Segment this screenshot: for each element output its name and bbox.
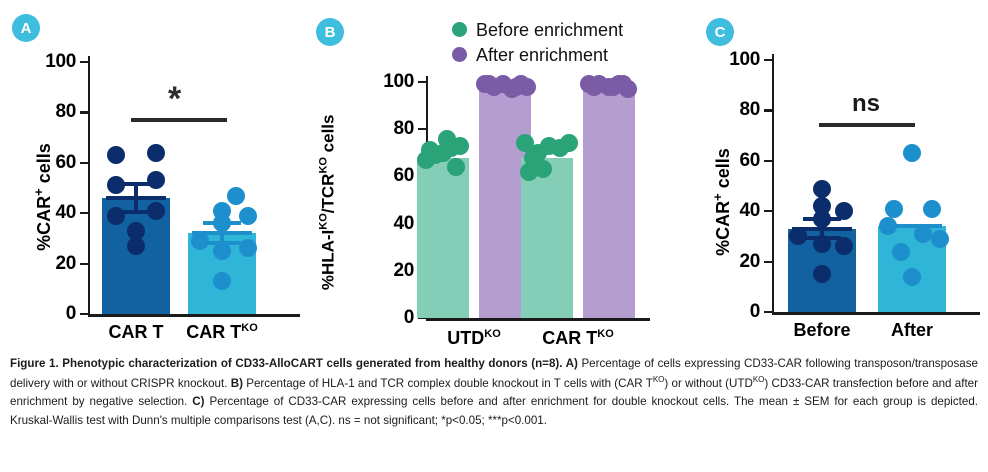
y-axis-tick (418, 81, 426, 83)
data-point (147, 202, 165, 220)
y-axis-sup-c: + (710, 193, 725, 201)
y-axis-tick (418, 128, 426, 130)
data-point (213, 242, 231, 260)
y-axis-tick-label: 0 (706, 302, 760, 321)
data-point (931, 230, 949, 248)
y-axis-sup1-b: KO (318, 213, 330, 230)
panel-c-plot: 020406080100BeforeAfterns (650, 0, 988, 350)
bar-before-0 (417, 158, 469, 318)
y-axis-tick (80, 61, 88, 63)
panel-b-y-axis-title: %HLA-IKO/TCRKO cells (318, 87, 339, 317)
bar-before-1 (521, 158, 573, 318)
y-axis-prefix-a: %CAR (34, 196, 54, 251)
panel-c-y-axis-title: %CAR+ cells (710, 117, 734, 287)
caption-b-text2: ) or without (UTD (664, 377, 752, 390)
data-point (903, 144, 921, 162)
panel-b-plot: 020406080100UTDKOCAR TKO (300, 0, 660, 350)
y-axis-tick-label: 40 (360, 214, 414, 233)
data-point (213, 214, 231, 232)
data-point (507, 78, 525, 96)
y-axis-line (772, 54, 774, 312)
data-point (107, 146, 125, 164)
data-point (438, 130, 456, 148)
data-point (885, 200, 903, 218)
significance-star: * (168, 82, 181, 116)
significance-ns-label: ns (852, 92, 880, 116)
figure-caption: Figure 1. Phenotypic characterization of… (10, 355, 978, 431)
data-point (447, 158, 465, 176)
y-axis-tick (80, 162, 88, 164)
data-point (892, 243, 910, 261)
y-axis-tick-label: 20 (360, 261, 414, 280)
panel-b: B Before enrichment After enrichment 020… (300, 0, 660, 350)
y-axis-suffix-a: cells (34, 143, 54, 188)
x-axis-line (426, 318, 650, 321)
data-point (813, 210, 831, 228)
y-axis-tick (764, 210, 772, 212)
x-axis-label: CAR TKO (503, 328, 653, 349)
errorbar-0-whisker (134, 184, 138, 212)
caption-sup-ko-2: KO (753, 375, 765, 384)
x-axis-line (88, 314, 300, 317)
y-axis-prefix-b: %HLA-I (318, 230, 337, 290)
y-axis-tick (764, 59, 772, 61)
data-point (239, 207, 257, 225)
data-point (107, 207, 125, 225)
y-axis-tick (80, 263, 88, 265)
significance-line (131, 118, 227, 122)
y-axis-line (88, 56, 90, 314)
data-point (127, 237, 145, 255)
data-point (191, 232, 209, 250)
y-axis-tick (764, 109, 772, 111)
y-axis-tick (764, 311, 772, 313)
y-axis-tick-label: 80 (360, 119, 414, 138)
y-axis-tick (764, 160, 772, 162)
y-axis-mid-b: /TCR (318, 174, 337, 214)
data-point (585, 78, 603, 96)
significance-line (819, 123, 915, 127)
data-point (604, 78, 622, 96)
bar-after-1 (583, 87, 635, 318)
y-axis-suffix-c: cells (713, 148, 733, 193)
y-axis-tick (80, 313, 88, 315)
caption-b-label: B) (231, 377, 243, 390)
y-axis-tick (80, 212, 88, 214)
panel-a: A 020406080100CAR TCAR TKO* %CAR+ cells (0, 0, 320, 350)
caption-lead: Figure 1. Phenotypic characterization of… (10, 357, 578, 370)
x-axis-line (772, 312, 980, 315)
y-axis-tick-label: 100 (360, 72, 414, 91)
y-axis-tick-label: 60 (360, 166, 414, 185)
caption-sup-ko-1: KO (653, 375, 665, 384)
data-point (914, 225, 932, 243)
y-axis-tick-label: 0 (22, 304, 76, 323)
panel-c: C 020406080100BeforeAfterns %CAR+ cells (650, 0, 988, 350)
x-axis-label: After (842, 320, 982, 341)
y-axis-prefix-c: %CAR (713, 201, 733, 256)
figure-container: A 020406080100CAR TCAR TKO* %CAR+ cells … (0, 0, 988, 472)
data-point (903, 268, 921, 286)
y-axis-tick-label: 100 (706, 50, 760, 69)
caption-c-label: C) (192, 395, 204, 408)
data-point (923, 200, 941, 218)
y-axis-sup2-b: KO (318, 157, 330, 174)
data-point (813, 235, 831, 253)
x-axis-label: CAR TKO (152, 322, 292, 343)
data-point (147, 171, 165, 189)
caption-b-text: Percentage of HLA-1 and TCR complex doub… (243, 377, 653, 390)
y-axis-tick-label: 100 (22, 52, 76, 71)
data-point (560, 134, 578, 152)
y-axis-tick (764, 261, 772, 263)
data-point (107, 176, 125, 194)
data-point (813, 180, 831, 198)
y-axis-suffix-b: cells (318, 115, 337, 158)
panel-a-y-axis-title: %CAR+ cells (31, 112, 55, 282)
data-point (835, 202, 853, 220)
data-point (147, 144, 165, 162)
data-point (227, 187, 245, 205)
y-axis-tick-label: 0 (360, 308, 414, 327)
y-axis-sup-a: + (31, 188, 46, 196)
y-axis-tick (80, 111, 88, 113)
